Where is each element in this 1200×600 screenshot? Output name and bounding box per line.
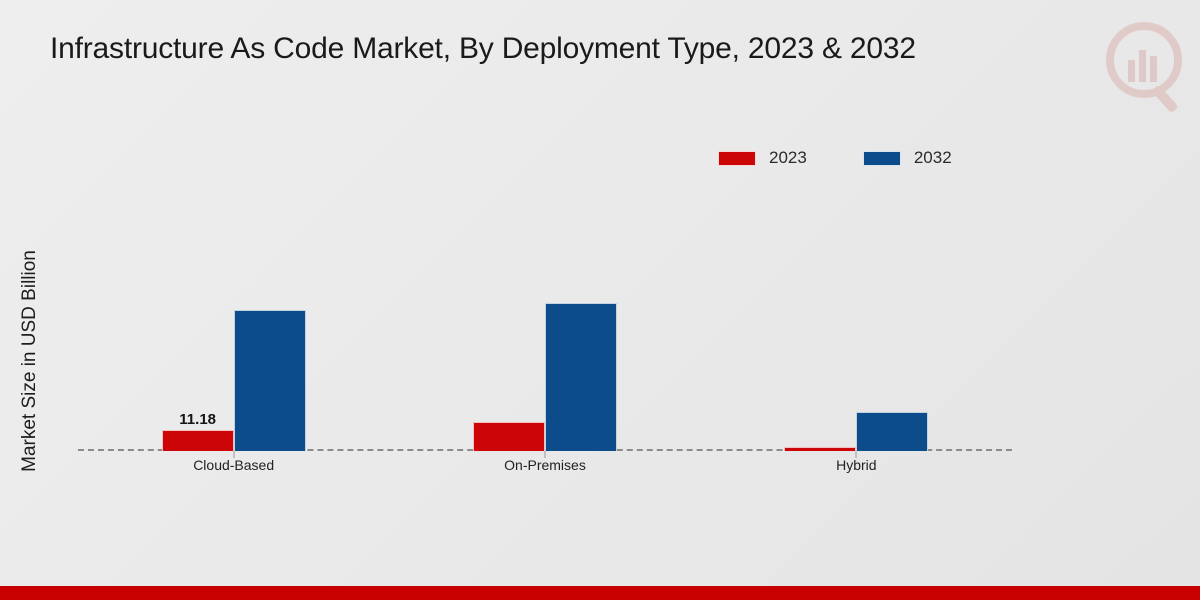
x-axis-label-cloud-based: Cloud-Based [193, 457, 274, 473]
y-axis-title: Market Size in USD Billion [19, 191, 41, 531]
bar-2023-cloud-based[interactable]: 11.18 [162, 430, 234, 451]
legend-label-2023: 2023 [769, 148, 807, 168]
legend-item-2023[interactable]: 2023 [718, 148, 807, 168]
footer-accent-bar [0, 586, 1200, 600]
bar-group-hybrid: Hybrid [701, 170, 1012, 451]
chart-title: Infrastructure As Code Market, By Deploy… [50, 32, 1050, 66]
x-axis-label-on-premises: On-Premises [504, 457, 586, 473]
watermark-logo-icon [1098, 18, 1190, 118]
chart-container: Infrastructure As Code Market, By Deploy… [0, 0, 1200, 600]
x-axis-label-hybrid: Hybrid [836, 457, 876, 473]
bar-2023-on-premises[interactable] [473, 422, 545, 451]
chart-legend: 2023 2032 [718, 148, 952, 168]
bars-cloud-based: 11.18 [162, 170, 306, 451]
bar-groups: 11.18 Cloud-Based On-Premises [78, 170, 1012, 451]
bar-value-label-2023-cloud-based: 11.18 [179, 411, 216, 428]
bar-group-cloud-based: 11.18 Cloud-Based [78, 170, 389, 451]
bar-group-on-premises: On-Premises [389, 170, 700, 451]
bars-hybrid [784, 170, 928, 451]
legend-label-2032: 2032 [914, 148, 952, 168]
bar-2032-on-premises[interactable] [545, 303, 617, 451]
plot-area: 11.18 Cloud-Based On-Premises [78, 170, 1012, 451]
bar-2023-hybrid[interactable] [784, 447, 856, 451]
bars-on-premises [473, 170, 617, 451]
bar-2032-cloud-based[interactable] [234, 310, 306, 451]
legend-item-2032[interactable]: 2032 [863, 148, 952, 168]
legend-swatch-2023 [718, 151, 756, 166]
bar-2032-hybrid[interactable] [856, 412, 928, 451]
legend-swatch-2032 [863, 151, 901, 166]
